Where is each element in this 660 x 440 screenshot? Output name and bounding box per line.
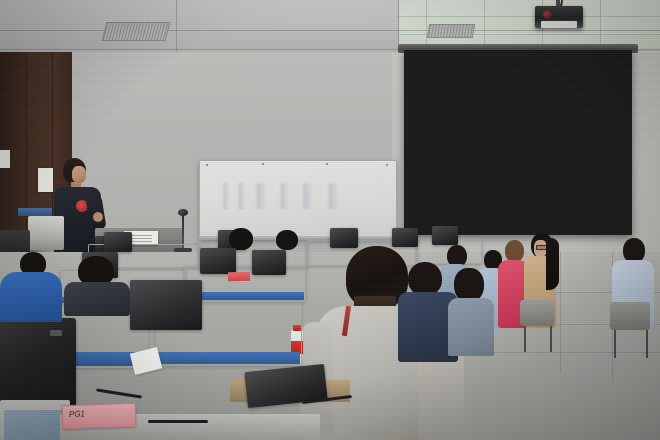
wall-notice-secondary [0, 150, 10, 168]
microphone-icon [178, 209, 188, 216]
desk-sticker-small [228, 272, 250, 281]
ceiling-projector-icon [535, 6, 583, 28]
ceiling-vent-left [102, 22, 171, 41]
projection-screen-frame: Excel Application Series | Data Manageme… [404, 50, 632, 235]
presenter-face [72, 166, 86, 183]
equipment-blue-box [18, 208, 52, 216]
whiteboard-writing [220, 183, 370, 209]
classroom-photo: Excel Application Series | Data Manageme… [0, 0, 660, 440]
student-head-far [454, 268, 484, 302]
projector-lens-icon [543, 10, 552, 19]
equipment-tower [28, 216, 64, 250]
presenter-hand [93, 212, 103, 222]
ceiling-vent-right [427, 24, 475, 38]
desk-name-sticker: PG1 [62, 403, 137, 430]
student-torso-far [448, 298, 494, 356]
monitor-back-left [130, 280, 202, 330]
desk-sticker-text: PG1 [69, 409, 85, 419]
cable [148, 420, 208, 423]
chair [520, 300, 554, 326]
whiteboard [199, 160, 397, 240]
wall-notice [38, 168, 53, 192]
chair [610, 302, 650, 330]
monitor-vent [50, 330, 62, 336]
